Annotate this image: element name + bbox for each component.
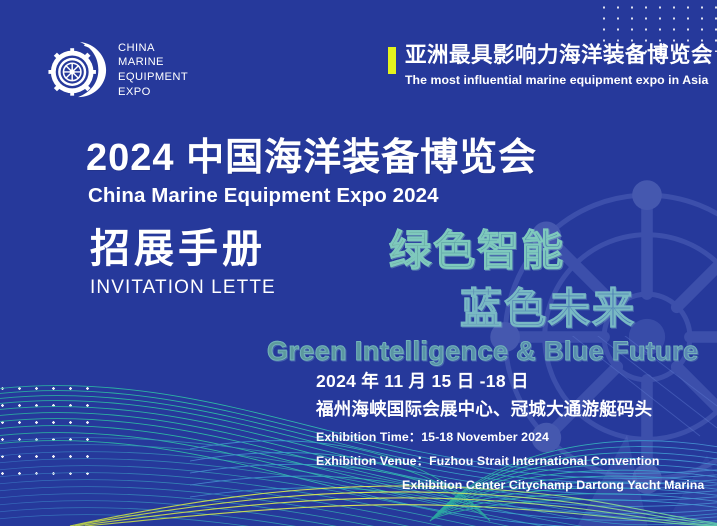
page-title-cn: 2024 中国海洋装备博览会 xyxy=(86,139,537,177)
tagline-cn: 亚洲最具影响力海洋装备博览会 xyxy=(405,44,713,67)
slogan-block: 绿色智能 蓝色未来 Green Intelligence & Blue Futu… xyxy=(264,228,717,363)
dot-grid-bottom-left-icon xyxy=(0,380,98,476)
tagline-en: The most influential marine equipment ex… xyxy=(405,73,713,87)
slogan-line-1-cn: 绿色智能 xyxy=(389,230,565,272)
event-venue-cn: 福州海峡国际会展中心、冠城大通游艇码头 xyxy=(316,396,717,422)
logo-line-4: EXPO xyxy=(118,85,188,100)
tagline: 亚洲最具影响力海洋装备博览会 The most influential mari… xyxy=(388,44,713,87)
event-venue-en-1: Exhibition Venue：Fuzhou Strait Internati… xyxy=(316,451,717,471)
logo-wordmark: CHINA MARINE EQUIPMENT EXPO xyxy=(118,41,188,99)
expo-poster: CHINA MARINE EQUIPMENT EXPO 亚洲最具影响力海洋装备博… xyxy=(0,0,717,526)
event-info: 2024 年 11 月 15 日 -18 日 福州海峡国际会展中心、冠城大通游艇… xyxy=(316,369,717,495)
logo: CHINA MARINE EQUIPMENT EXPO xyxy=(47,39,188,101)
logo-line-2: MARINE xyxy=(118,55,188,70)
event-date-cn: 2024 年 11 月 15 日 -18 日 xyxy=(316,369,717,394)
slogan-line-en: Green Intelligence & Blue Future xyxy=(267,338,698,365)
event-venue-en-2: Exhibition Center Citychamp Dartong Yach… xyxy=(316,475,717,495)
gear-crescent-logo-icon xyxy=(47,39,109,101)
logo-line-3: EQUIPMENT xyxy=(118,70,188,85)
logo-line-1: CHINA xyxy=(118,41,188,56)
accent-bar xyxy=(388,47,396,74)
subtitle-en: INVITATION LETTE xyxy=(90,278,276,297)
page-title-en: China Marine Equipment Expo 2024 xyxy=(88,186,439,207)
event-time-en: Exhibition Time：15-18 November 2024 xyxy=(316,427,717,447)
subtitle-cn: 招展手册 xyxy=(90,229,266,269)
slogan-line-2-cn: 蓝色未来 xyxy=(460,288,636,330)
